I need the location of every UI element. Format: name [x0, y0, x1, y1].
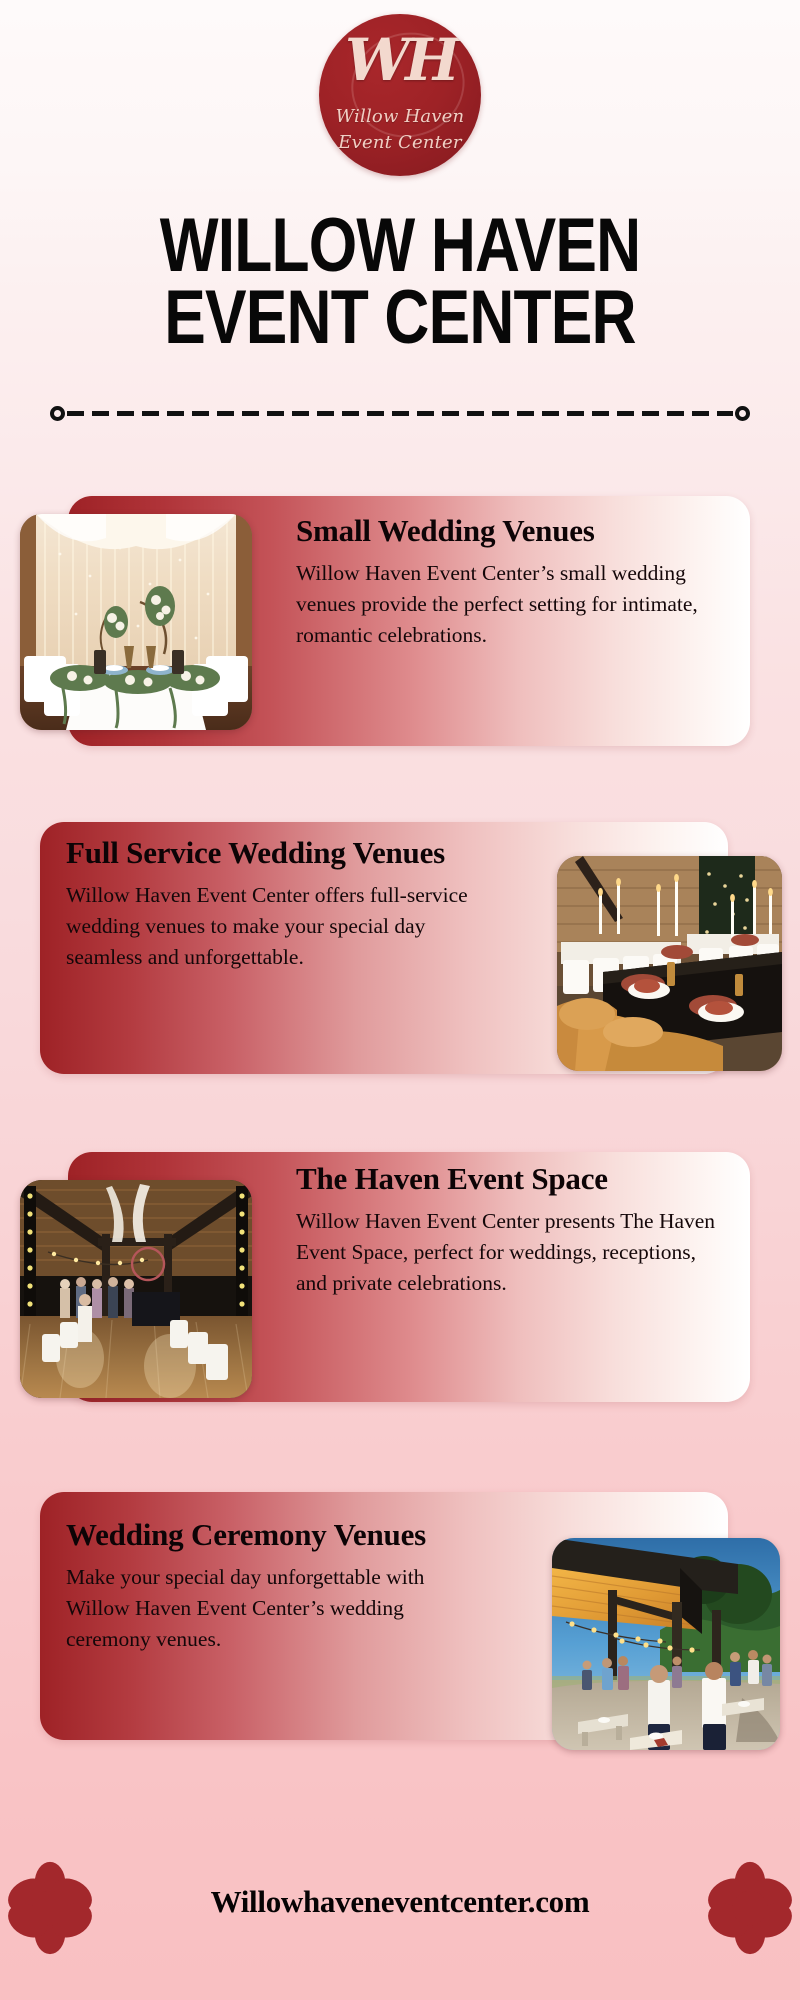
card-heading: Full Service Wedding Venues: [66, 836, 486, 869]
feature-card-the-haven-event-space[interactable]: The Haven Event Space Willow Haven Event…: [68, 1152, 750, 1402]
brand-logo: WH Willow Haven Event Center: [319, 14, 481, 176]
card-photo-the-haven-event-space: [20, 1180, 252, 1398]
divider-ring-right-icon: [735, 406, 750, 421]
logo-monogram: WH: [319, 31, 481, 89]
footer-website-url[interactable]: Willowhaveneventcenter.com: [0, 1884, 800, 1920]
card-text-block: Full Service Wedding Venues Willow Haven…: [66, 836, 486, 972]
card-photo-wedding-ceremony-venues: [552, 1538, 780, 1750]
card-body: Make your special day unforgettable with…: [66, 1562, 484, 1654]
feature-card-wedding-ceremony-venues[interactable]: Wedding Ceremony Venues Make your specia…: [40, 1492, 728, 1740]
page-title: WILLOW HAVEN EVENT CENTER: [105, 210, 695, 354]
divider-dashed-line: [67, 411, 733, 416]
footer: Willowhaveneventcenter.com: [0, 1800, 800, 2000]
card-text-block: Small Wedding Venues Willow Haven Event …: [296, 514, 721, 650]
divider-ring-left-icon: [50, 406, 65, 421]
feature-card-small-wedding-venues[interactable]: Small Wedding Venues Willow Haven Event …: [68, 496, 750, 746]
section-divider: [50, 404, 750, 422]
logo-name-line2: Event Center: [319, 134, 481, 152]
card-text-block: The Haven Event Space Willow Haven Event…: [296, 1162, 726, 1298]
card-heading: Small Wedding Venues: [296, 514, 721, 547]
card-body: Willow Haven Event Center offers full-se…: [66, 880, 486, 972]
infographic-poster: WH Willow Haven Event Center WILLOW HAVE…: [0, 0, 800, 2000]
flower-right-icon: [702, 1860, 798, 1956]
card-heading: The Haven Event Space: [296, 1162, 726, 1195]
card-body: Willow Haven Event Center presents The H…: [296, 1206, 726, 1298]
logo-name-line1: Willow Haven: [319, 108, 481, 126]
feature-card-full-service-wedding-venues[interactable]: Full Service Wedding Venues Willow Haven…: [40, 822, 728, 1074]
card-photo-full-service-wedding-venues: [557, 856, 782, 1071]
card-photo-small-wedding-venues: [20, 514, 252, 730]
card-text-block: Wedding Ceremony Venues Make your specia…: [66, 1518, 484, 1654]
logo-circle-badge: WH Willow Haven Event Center: [319, 14, 481, 176]
card-heading: Wedding Ceremony Venues: [66, 1518, 484, 1551]
card-body: Willow Haven Event Center’s small weddin…: [296, 558, 721, 650]
